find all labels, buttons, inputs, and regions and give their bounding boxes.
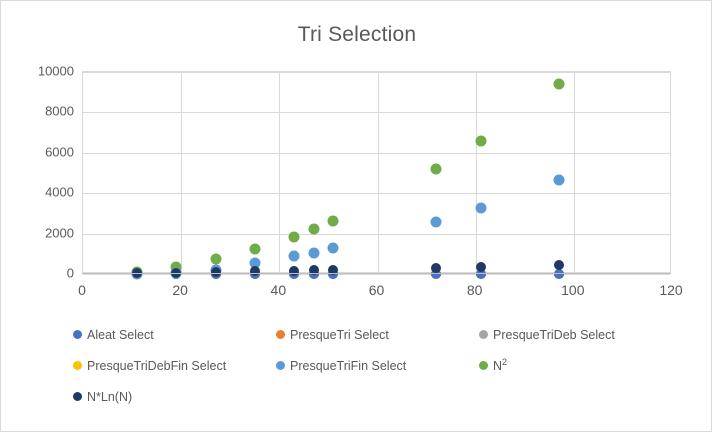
legend-item[interactable]: PresqueTriDebFin Select [73,359,226,373]
data-point [431,217,442,228]
x-tick-label: 80 [445,282,505,298]
legend-marker-icon [479,330,488,339]
data-point [476,262,486,272]
data-point [328,216,339,227]
chart-legend: Aleat SelectPresqueTri SelectPresqueTriD… [73,319,703,412]
legend-label: PresqueTriFin Select [290,359,406,373]
data-point [554,269,564,279]
legend-marker-icon [73,361,82,370]
gridline-horizontal [83,112,670,113]
legend-marker-icon [73,392,82,401]
x-tick-label: 60 [347,282,407,298]
data-point [475,136,486,147]
data-point [475,203,486,214]
legend-item[interactable]: PresqueTriFin Select [276,359,406,373]
x-tick-label: 100 [543,282,603,298]
legend-label: Aleat Select [87,328,154,342]
gridline-vertical [378,72,379,272]
legend-item[interactable]: N*Ln(N) [73,390,132,404]
gridline-vertical [181,72,182,272]
x-tick-label: 120 [641,282,701,298]
legend-item[interactable]: N2 [479,357,507,373]
data-point [289,231,300,242]
x-tick-label: 0 [52,282,112,298]
legend-item[interactable]: PresqueTriDeb Select [479,328,615,342]
legend-row: N*Ln(N) [73,381,703,412]
y-tick-label: 2000 [1,225,74,240]
data-point [289,266,299,276]
legend-label: PresqueTriDebFin Select [87,359,226,373]
data-point [308,247,319,258]
y-tick-label: 8000 [1,104,74,119]
legend-item[interactable]: PresqueTri Select [276,328,389,342]
legend-label: N*Ln(N) [87,390,132,404]
legend-marker-icon [276,330,285,339]
x-axis-line [82,273,671,274]
x-tick-label: 40 [248,282,308,298]
legend-label-superscript: 2 [502,357,507,367]
gridline-vertical [279,72,280,272]
chart-container: Tri Selection 0200040006000800010000 020… [0,0,712,432]
legend-label: PresqueTriDeb Select [493,328,615,342]
data-point [308,224,319,235]
y-tick-label: 10000 [1,64,74,79]
gridline-horizontal [83,153,670,154]
data-point [554,260,564,270]
legend-label: PresqueTri Select [290,328,389,342]
legend-row: Aleat SelectPresqueTri SelectPresqueTriD… [73,319,703,350]
data-point [554,78,565,89]
data-point [328,243,339,254]
legend-label: N2 [493,357,507,373]
chart-title: Tri Selection [1,23,712,47]
data-point [431,164,442,175]
data-point [289,250,300,261]
legend-marker-icon [479,361,488,370]
data-point [250,266,260,276]
legend-item[interactable]: Aleat Select [73,328,154,342]
data-point [431,263,441,273]
gridline-vertical [574,72,575,272]
y-tick-label: 4000 [1,185,74,200]
data-point [554,175,565,186]
plot-area [82,71,671,273]
data-point [210,254,221,265]
gridline-horizontal [83,72,670,73]
gridline-vertical [476,72,477,272]
legend-marker-icon [276,361,285,370]
data-point [249,244,260,255]
y-tick-label: 6000 [1,144,74,159]
gridline-horizontal [83,234,670,235]
gridline-horizontal [83,193,670,194]
legend-row: PresqueTriDebFin SelectPresqueTriFin Sel… [73,350,703,381]
legend-marker-icon [73,330,82,339]
x-tick-label: 20 [150,282,210,298]
y-tick-label: 0 [1,266,74,281]
